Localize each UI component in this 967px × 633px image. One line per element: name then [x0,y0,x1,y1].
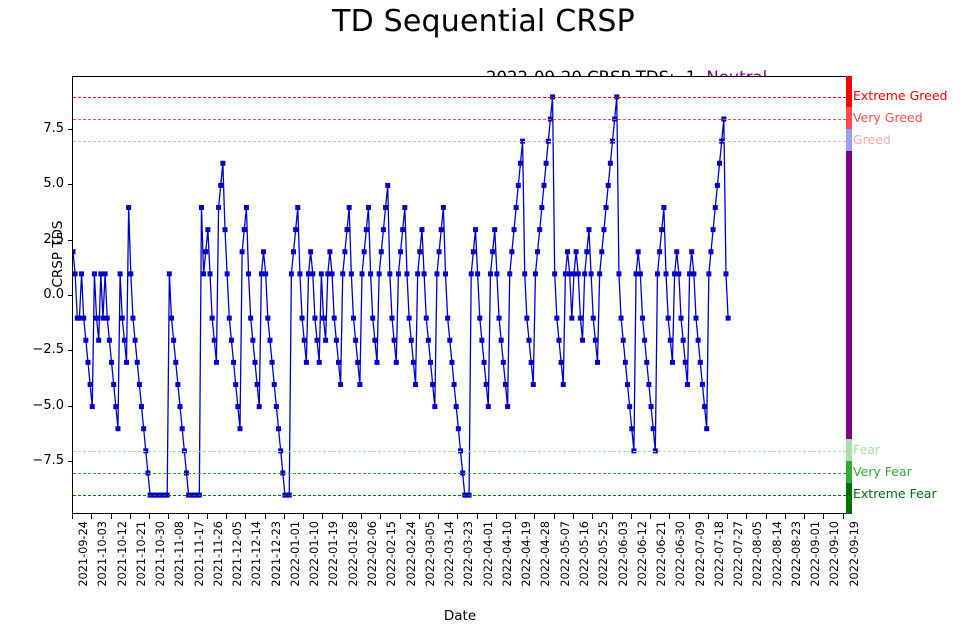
series-marker [711,227,716,232]
series-marker [201,271,206,276]
series-marker [246,271,251,276]
x-tick-label: 2022-04-10 [501,521,514,587]
series-marker [507,271,512,276]
series-marker [704,426,709,431]
series-marker [576,271,581,276]
x-tick-label: 2022-02-24 [405,521,418,587]
series-marker [597,271,602,276]
x-tick-mark [496,514,497,519]
x-tick-mark [650,514,651,519]
series-marker [404,271,409,276]
x-tick-label: 2021-11-17 [193,521,206,587]
x-tick-label: 2022-05-25 [597,521,610,587]
x-tick-label: 2021-12-05 [231,521,244,587]
threshold-line-extreme-greed [73,97,846,98]
x-tick-mark [322,514,323,519]
y-tick-label: 5.0 [20,176,64,191]
series-marker [700,382,705,387]
series-marker [122,338,127,343]
series-marker [270,360,275,365]
series-marker [646,382,651,387]
crsp-tds-series [73,77,848,515]
series-marker [368,271,373,276]
threshold-line-very-fear [73,473,846,474]
threshold-line-fear [73,451,846,452]
x-tick-label: 2022-07-09 [694,521,707,587]
series-marker [73,249,76,254]
series-marker [304,360,309,365]
series-marker [634,271,639,276]
series-marker [567,271,572,276]
series-marker [708,249,713,254]
series-marker [180,426,185,431]
series-marker [434,271,439,276]
series-marker [141,426,146,431]
x-tick-label: 2022-03-14 [443,521,456,587]
series-marker [529,360,534,365]
x-tick-mark [188,514,189,519]
series-marker [475,271,480,276]
band-label-extreme-greed: Extreme Greed [853,88,947,103]
series-marker [582,271,587,276]
series-marker [706,271,711,276]
series-marker [233,382,238,387]
x-tick-label: 2022-09-01 [809,521,822,587]
series-marker [683,360,688,365]
series-marker [687,271,692,276]
series-marker [248,316,253,321]
series-marker [574,249,579,254]
series-marker [417,249,422,254]
series-marker [661,205,666,210]
page-title: TD Sequential CRSP [0,4,967,39]
series-marker [267,338,272,343]
series-marker [105,316,110,321]
series-marker [229,338,234,343]
x-tick-label: 2022-08-05 [751,521,764,587]
series-marker [327,249,332,254]
series-marker [315,338,320,343]
series-marker [235,404,240,409]
x-tick-label: 2022-05-16 [578,521,591,587]
fear-bar [846,439,852,461]
x-tick-mark [168,514,169,519]
series-marker [681,338,686,343]
series-marker [308,249,313,254]
series-marker [685,382,690,387]
series-marker [259,271,264,276]
series-marker [535,249,540,254]
series-marker [469,271,474,276]
threshold-line-very-greed [73,119,846,120]
x-tick-mark [727,514,728,519]
series-marker [629,426,634,431]
series-marker [118,271,123,276]
series-marker [312,316,317,321]
y-tick-mark [68,295,73,296]
series-marker [96,338,101,343]
x-tick-mark [72,514,73,519]
series-marker [541,183,546,188]
series-marker [225,271,230,276]
x-tick-mark [592,514,593,519]
series-marker [482,360,487,365]
series-marker [244,205,249,210]
series-marker [432,404,437,409]
x-tick-label: 2022-03-23 [462,521,475,587]
x-tick-label: 2022-01-28 [347,521,360,587]
series-marker [332,316,337,321]
series-marker [208,271,213,276]
series-marker [300,316,305,321]
y-tick-label: −5.0 [20,398,64,413]
series-marker [103,271,108,276]
series-marker [666,316,671,321]
x-tick-mark [111,514,112,519]
x-tick-mark [419,514,420,519]
x-tick-label: 2022-02-15 [385,521,398,587]
series-marker [366,205,371,210]
series-marker [342,249,347,254]
series-marker [169,316,174,321]
band-label-greed: Greed [853,132,891,147]
x-tick-mark [689,514,690,519]
x-tick-mark [477,514,478,519]
x-tick-mark [226,514,227,519]
series-marker [604,205,609,210]
series-marker [627,404,632,409]
series-marker [98,271,103,276]
series-marker [537,227,542,232]
series-marker [377,271,382,276]
series-marker [679,316,684,321]
series-marker [608,161,613,166]
series-marker [135,360,140,365]
series-marker [94,316,99,321]
x-tick-mark [554,514,555,519]
series-marker [561,382,566,387]
series-marker [407,316,412,321]
series-marker [85,360,90,365]
x-tick-mark [766,514,767,519]
x-tick-label: 2022-04-28 [539,521,552,587]
series-marker [321,316,326,321]
series-marker [334,338,339,343]
x-tick-mark [612,514,613,519]
series-marker [452,382,457,387]
series-marker [586,227,591,232]
series-marker [336,360,341,365]
x-tick-label: 2021-10-30 [154,521,167,587]
series-marker [220,161,225,166]
series-marker [319,271,324,276]
x-tick-mark [708,514,709,519]
y-tick-mark [68,350,73,351]
series-marker [175,382,180,387]
series-marker [302,338,307,343]
x-tick-mark [669,514,670,519]
series-marker [580,338,585,343]
series-marker [73,271,78,276]
series-marker [591,316,596,321]
x-tick-label: 2022-01-10 [308,521,321,587]
series-marker [218,183,223,188]
series-marker [411,360,416,365]
series-marker [381,227,386,232]
series-marker [445,316,450,321]
x-tick-label: 2022-06-30 [674,521,687,587]
series-marker [413,382,418,387]
x-tick-mark [823,514,824,519]
series-marker [518,161,523,166]
series-marker [689,249,694,254]
series-marker [92,271,97,276]
series-marker [484,382,489,387]
series-marker [636,249,641,254]
y-tick-mark [68,406,73,407]
x-tick-label: 2022-08-23 [790,521,803,587]
band-label-very-fear: Very Fear [853,464,912,479]
y-tick-label: 7.5 [20,121,64,136]
series-marker [723,271,728,276]
series-marker [325,271,330,276]
series-marker [77,316,82,321]
series-marker [439,227,444,232]
extreme-greed-bar [846,76,852,107]
series-marker [655,271,660,276]
series-marker [437,249,442,254]
x-tick-label: 2022-02-06 [366,521,379,587]
series-marker [242,227,247,232]
series-marker [601,227,606,232]
series-marker [272,382,277,387]
series-marker [385,183,390,188]
x-axis-label: Date [0,608,920,624]
series-marker [291,249,296,254]
series-marker [338,382,343,387]
series-marker [599,249,604,254]
series-marker [512,227,517,232]
x-tick-mark [746,514,747,519]
series-marker [559,360,564,365]
series-marker [263,271,268,276]
series-marker [81,316,86,321]
series-marker [447,338,452,343]
x-tick-label: 2021-10-21 [135,521,148,587]
series-marker [479,338,484,343]
series-marker [696,338,701,343]
x-tick-label: 2021-10-03 [96,521,109,587]
series-marker [289,271,294,276]
series-marker [396,271,401,276]
series-marker [664,271,669,276]
series-marker [505,404,510,409]
series-marker [317,360,322,365]
series-marker [330,271,335,276]
series-marker [428,360,433,365]
series-marker [394,360,399,365]
x-tick-mark [573,514,574,519]
x-tick-label: 2022-01-19 [327,521,340,587]
series-marker [210,316,215,321]
x-tick-mark [534,514,535,519]
series-marker [223,227,228,232]
series-marker [490,249,495,254]
x-tick-label: 2021-10-12 [116,521,129,587]
series-marker [584,249,589,254]
series-marker [139,404,144,409]
series-marker [216,205,221,210]
series-marker [205,227,210,232]
x-tick-label: 2021-09-24 [77,521,90,587]
x-tick-mark [843,514,844,519]
x-tick-label: 2022-09-10 [828,521,841,587]
series-marker [415,271,420,276]
series-marker [554,316,559,321]
series-marker [499,338,504,343]
series-marker [589,271,594,276]
x-tick-label: 2022-07-27 [732,521,745,587]
x-tick-label: 2021-11-26 [212,521,225,587]
series-marker [351,316,356,321]
series-marker [171,338,176,343]
series-marker [430,382,435,387]
series-marker [569,316,574,321]
series-marker [644,360,649,365]
series-marker [375,360,380,365]
x-tick-mark [380,514,381,519]
series-marker [625,382,630,387]
series-marker [503,382,508,387]
series-marker [443,271,448,276]
series-marker [514,205,519,210]
series-marker [400,227,405,232]
series-marker [621,338,626,343]
x-tick-label: 2022-06-12 [636,521,649,587]
series-marker [310,271,315,276]
series-marker [120,316,125,321]
series-marker [252,360,257,365]
series-marker [107,338,112,343]
series-marker [402,205,407,210]
plot-area [72,76,847,514]
y-tick-mark [68,461,73,462]
series-marker [698,360,703,365]
series-marker [488,271,493,276]
very-fear-bar [846,461,852,483]
series-marker [345,227,350,232]
series-marker [674,249,679,254]
y-tick-label: −7.5 [20,453,64,468]
series-marker [355,360,360,365]
series-marker [323,338,328,343]
series-marker [128,271,133,276]
x-tick-mark [303,514,304,519]
series-marker [133,338,138,343]
x-tick-mark [400,514,401,519]
series-marker [265,316,270,321]
band-label-very-greed: Very Greed [853,110,923,125]
series-marker [715,183,720,188]
x-tick-label: 2021-12-23 [270,521,283,587]
x-tick-mark [361,514,362,519]
x-tick-mark [631,514,632,519]
x-tick-mark [265,514,266,519]
series-marker [398,249,403,254]
x-tick-mark [149,514,150,519]
series-marker [173,360,178,365]
x-tick-label: 2022-03-05 [424,521,437,587]
x-tick-label: 2022-06-03 [617,521,630,587]
series-marker [531,382,536,387]
greed-bar [846,129,852,151]
series-marker [578,316,583,321]
x-tick-mark [438,514,439,519]
series-marker [293,227,298,232]
series-marker [571,271,576,276]
series-marker [357,382,362,387]
x-tick-label: 2022-07-18 [713,521,726,587]
series-marker [349,271,354,276]
series-marker [100,316,105,321]
series-marker [276,426,281,431]
series-marker [726,316,731,321]
series-marker [90,404,95,409]
series-marker [340,271,345,276]
series-marker [387,271,392,276]
series-marker [449,360,454,365]
series-marker [167,271,172,276]
series-marker [83,338,88,343]
series-marker [419,227,424,232]
series-marker [389,316,394,321]
series-marker [409,338,414,343]
series-marker [642,338,647,343]
series-marker [88,382,93,387]
series-marker [178,404,183,409]
series-marker [657,249,662,254]
x-tick-label: 2022-06-21 [655,521,668,587]
chart-page: TD Sequential CRSP W3Data.io Chart Web3 … [0,0,967,633]
series-marker [212,338,217,343]
series-marker [372,338,377,343]
series-marker [214,360,219,365]
x-tick-label: 2022-09-19 [848,521,861,587]
threshold-line-greed [73,141,846,142]
series-marker [477,316,482,321]
series-marker [360,271,365,276]
y-tick-mark [68,129,73,130]
series-marker [497,316,502,321]
series-marker [115,426,120,431]
series-marker [347,205,352,210]
series-marker [676,271,681,276]
series-marker [556,338,561,343]
series-marker [691,271,696,276]
series-marker [250,338,255,343]
series-marker [297,271,302,276]
neutral-bar [846,151,852,439]
x-tick-label: 2021-12-14 [250,521,263,587]
series-marker [524,316,529,321]
series-marker [137,382,142,387]
series-marker [606,183,611,188]
series-marker [274,404,279,409]
series-marker [227,316,232,321]
series-marker [111,382,116,387]
y-tick-label: −2.5 [20,342,64,357]
series-marker [113,404,118,409]
